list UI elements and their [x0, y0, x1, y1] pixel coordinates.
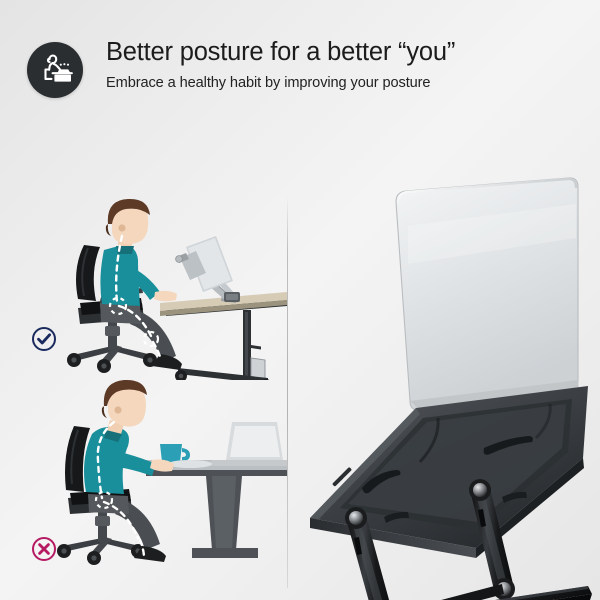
header-bar: Better posture for a better “you” Embrac…: [0, 0, 600, 118]
infographic-page: Better posture for a better “you” Embrac…: [0, 0, 600, 600]
page-subtitle: Embrace a healthy habit by improving you…: [106, 74, 586, 93]
header-text-block: Better posture for a better “you” Embrac…: [106, 36, 586, 93]
page-title: Better posture for a better “you”: [106, 36, 586, 68]
posture-comparison-panel: [0, 118, 287, 600]
adjustable-laptop-stand-with-laptop: [288, 118, 600, 600]
person-at-desk-icon: [27, 42, 83, 98]
product-photo-panel: [288, 118, 600, 600]
status-badge-bad: [31, 536, 57, 562]
status-badge-good: [31, 326, 57, 352]
